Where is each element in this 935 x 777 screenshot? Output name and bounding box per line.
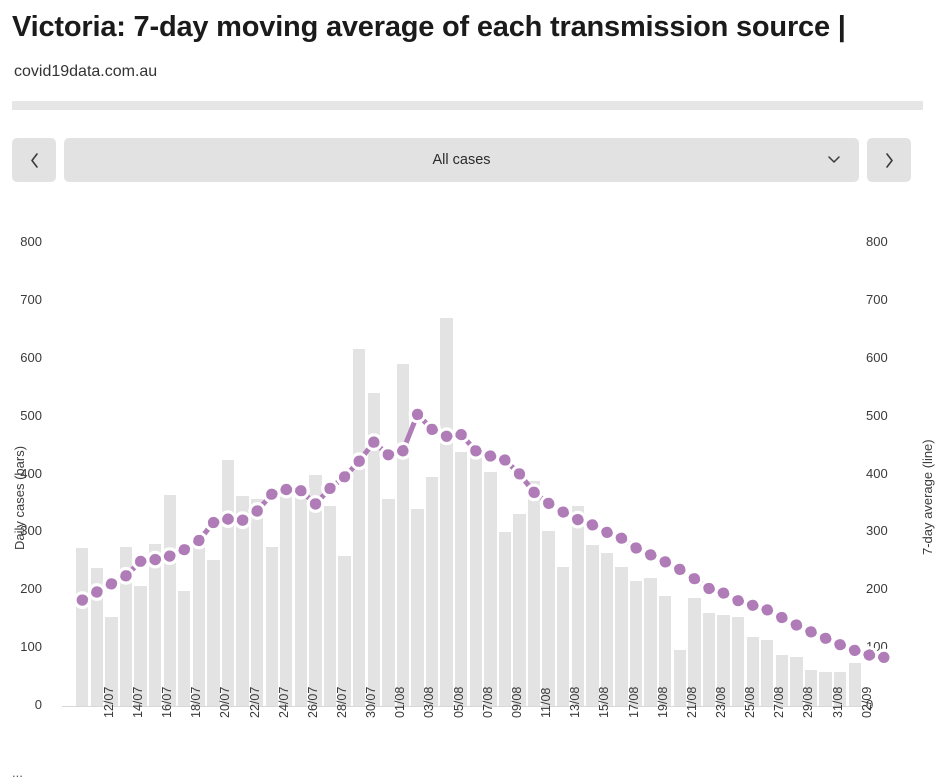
x-tick: 07/08 <box>481 687 495 718</box>
line-marker[interactable] <box>470 445 481 456</box>
x-tick: 13/08 <box>568 687 582 718</box>
line-marker[interactable] <box>427 424 438 435</box>
x-tick: 12/07 <box>102 687 116 718</box>
source-selector-row: All cases <box>0 110 935 182</box>
previous-source-button[interactable] <box>12 138 56 182</box>
line-marker[interactable] <box>135 556 146 567</box>
line-marker[interactable] <box>499 454 510 465</box>
line-marker[interactable] <box>222 514 233 525</box>
page-subtitle: covid19data.com.au <box>14 63 923 81</box>
line-marker[interactable] <box>485 450 496 461</box>
line-marker[interactable] <box>266 489 277 500</box>
x-tick: 01/08 <box>393 687 407 718</box>
x-tick: 21/08 <box>685 687 699 718</box>
x-tick: 19/08 <box>656 687 670 718</box>
x-tick: 23/08 <box>714 687 728 718</box>
chevron-down-icon <box>827 151 841 169</box>
line-marker[interactable] <box>558 507 569 518</box>
line-marker[interactable] <box>237 515 248 526</box>
chevron-left-icon <box>29 152 40 169</box>
line-marker[interactable] <box>164 551 175 562</box>
page-header: Victoria: 7-day moving average of each t… <box>0 0 935 81</box>
line-marker[interactable] <box>193 535 204 546</box>
line-marker[interactable] <box>150 554 161 565</box>
line-marker[interactable] <box>805 626 816 637</box>
line-marker[interactable] <box>412 409 423 420</box>
page-title: Victoria: 7-day moving average of each t… <box>12 8 923 47</box>
source-dropdown-value: All cases <box>432 152 490 168</box>
x-tick: 22/07 <box>248 687 262 718</box>
line-marker[interactable] <box>310 498 321 509</box>
line-marker[interactable] <box>543 498 554 509</box>
line-marker[interactable] <box>441 431 452 442</box>
line-marker[interactable] <box>208 517 219 528</box>
x-tick: 29/08 <box>801 687 815 718</box>
x-tick: 05/08 <box>452 687 466 718</box>
x-tick: 14/07 <box>131 687 145 718</box>
line-marker[interactable] <box>835 639 846 650</box>
x-tick: 26/07 <box>306 687 320 718</box>
line-marker[interactable] <box>295 485 306 496</box>
line-marker[interactable] <box>397 445 408 456</box>
line-marker[interactable] <box>354 456 365 467</box>
x-tick: 16/07 <box>160 687 174 718</box>
clipped-footer-text: ... <box>12 766 23 777</box>
line-marker[interactable] <box>383 449 394 460</box>
line-marker[interactable] <box>878 652 889 663</box>
x-tick: 17/08 <box>627 687 641 718</box>
line-marker[interactable] <box>514 468 525 479</box>
line-marker[interactable] <box>674 564 685 575</box>
line-marker[interactable] <box>572 514 583 525</box>
line-marker[interactable] <box>733 595 744 606</box>
x-tick: 18/07 <box>189 687 203 718</box>
x-tick: 25/08 <box>743 687 757 718</box>
chart-plot-area: Daily cases (bars) 7-day average (line) … <box>0 225 935 777</box>
next-source-button[interactable] <box>867 138 911 182</box>
x-tick: 09/08 <box>510 687 524 718</box>
line-marker[interactable] <box>252 505 263 516</box>
x-tick: 28/07 <box>335 687 349 718</box>
x-tick: 03/08 <box>422 687 436 718</box>
line-marker[interactable] <box>645 549 656 560</box>
line-marker[interactable] <box>718 588 729 599</box>
line-marker[interactable] <box>77 595 88 606</box>
x-tick: 15/08 <box>597 687 611 718</box>
line-marker[interactable] <box>762 604 773 615</box>
line-marker[interactable] <box>281 484 292 495</box>
line-marker[interactable] <box>91 586 102 597</box>
line-marker[interactable] <box>703 583 714 594</box>
line-marker[interactable] <box>660 556 671 567</box>
line-marker[interactable] <box>179 544 190 555</box>
line-marker[interactable] <box>689 573 700 584</box>
chevron-right-icon <box>884 152 895 169</box>
line-marker[interactable] <box>106 578 117 589</box>
line-marker[interactable] <box>849 645 860 656</box>
x-tick: 11/08 <box>539 688 553 718</box>
line-marker[interactable] <box>820 633 831 644</box>
line-marker[interactable] <box>747 600 758 611</box>
line-marker[interactable] <box>339 471 350 482</box>
source-dropdown[interactable]: All cases <box>64 138 859 182</box>
line-marker[interactable] <box>587 519 598 530</box>
x-tick: 30/07 <box>364 687 378 718</box>
x-tick: 31/08 <box>831 687 845 718</box>
line-marker[interactable] <box>529 487 540 498</box>
line-marker[interactable] <box>616 533 627 544</box>
line-marker[interactable] <box>120 570 131 581</box>
x-tick: 02/09 <box>860 687 874 718</box>
x-tick: 27/08 <box>772 687 786 718</box>
line-marker[interactable] <box>601 527 612 538</box>
line-marker[interactable] <box>456 429 467 440</box>
x-tick: 24/07 <box>277 687 291 718</box>
line-marker[interactable] <box>776 612 787 623</box>
line-marker[interactable] <box>631 542 642 553</box>
line-marker[interactable] <box>368 437 379 448</box>
line-marker[interactable] <box>864 650 875 661</box>
line-marker[interactable] <box>791 619 802 630</box>
x-tick: 20/07 <box>218 687 232 718</box>
line-marker[interactable] <box>324 483 335 494</box>
header-divider <box>12 101 923 110</box>
